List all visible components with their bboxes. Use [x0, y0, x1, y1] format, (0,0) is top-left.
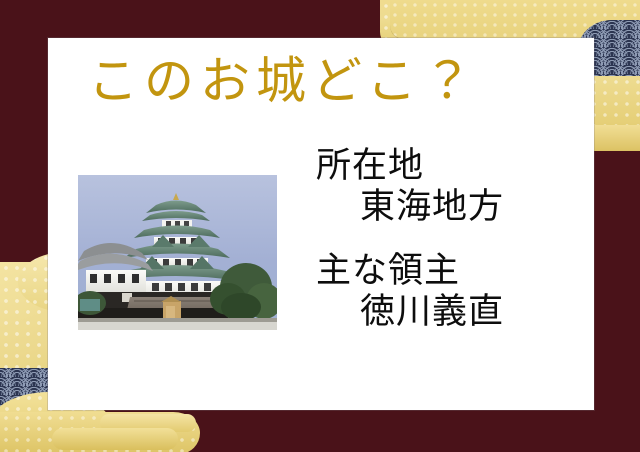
- content-card: このお城どこ？: [48, 38, 594, 410]
- info-block: 所在地 東海地方 主な領主 徳川義直: [316, 146, 578, 355]
- gold-cloud-strip-bottom: [0, 412, 200, 452]
- info-value-lord: 徳川義直: [316, 292, 578, 333]
- page-title: このお城どこ？: [88, 54, 558, 109]
- castle-photo: [78, 175, 277, 330]
- info-value-location: 東海地方: [316, 187, 578, 228]
- info-label-location: 所在地: [316, 146, 578, 187]
- info-group-lord: 主な領主 徳川義直: [316, 251, 578, 334]
- gold-cloud-band-top-right-inner: [390, 0, 640, 40]
- gold-cloud-tab-bottom-upper: [100, 414, 196, 432]
- info-label-lord: 主な領主: [316, 251, 578, 292]
- slide-canvas: このお城どこ？: [0, 0, 640, 452]
- info-group-location: 所在地 東海地方: [316, 146, 578, 229]
- gold-cloud-tab-bottom: [52, 428, 178, 450]
